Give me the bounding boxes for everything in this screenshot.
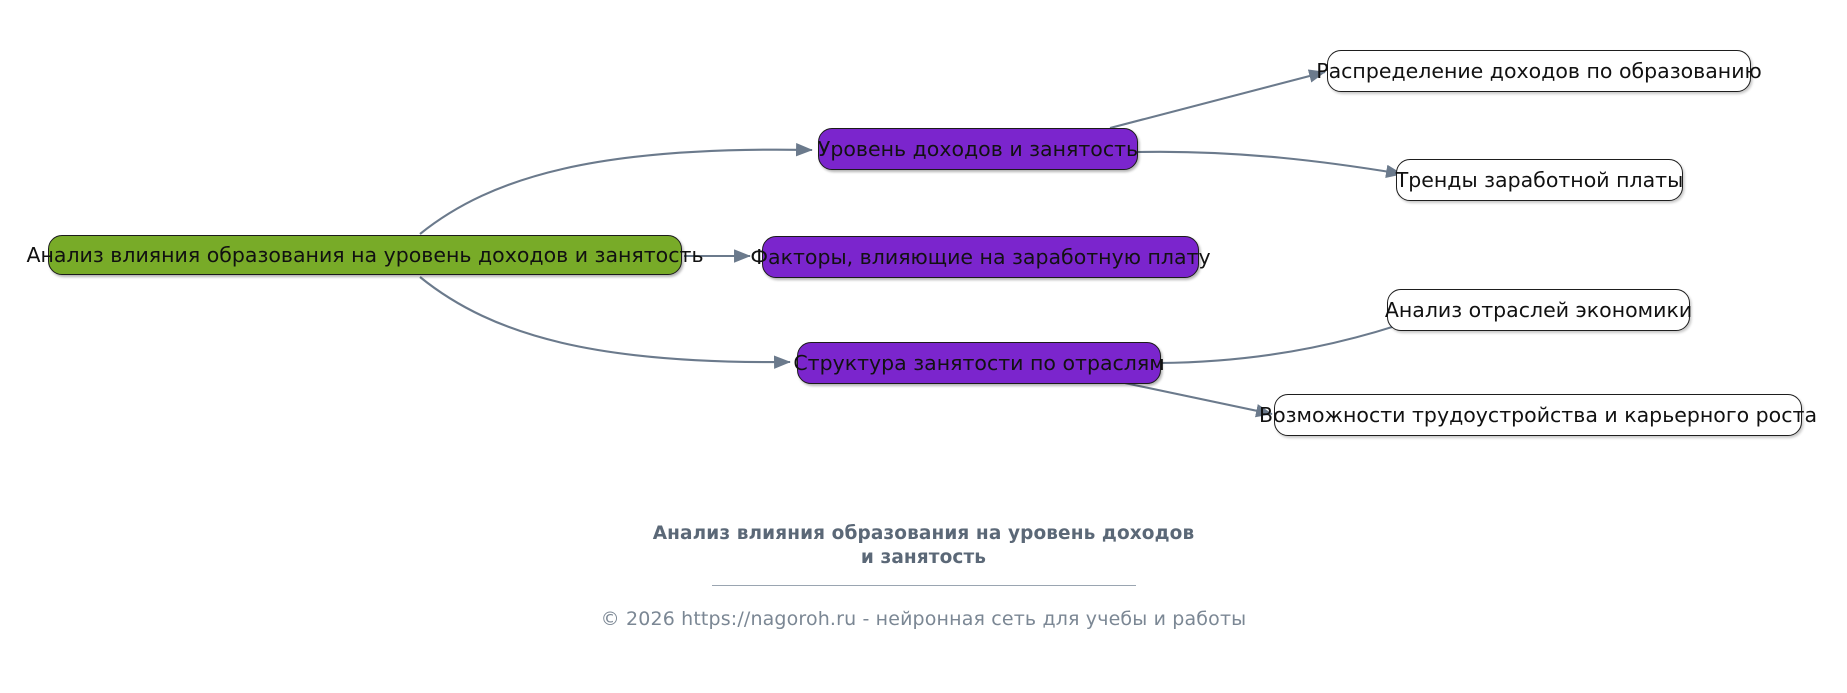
- mindmap-leaf-node-career-opportunities[interactable]: Возможности трудоустройства и карьерного…: [1274, 394, 1802, 436]
- mindmap-branch-node-salary-factors[interactable]: Факторы, влияющие на заработную плату: [762, 236, 1199, 278]
- edge-branch-1-to-leaf-2: [1138, 152, 1402, 174]
- mindmap-branch-node-label: Структура занятости по отраслям: [793, 352, 1164, 375]
- edge-branch-3-to-leaf-4: [1120, 382, 1272, 414]
- mindmap-leaf-node-label: Анализ отраслей экономики: [1385, 299, 1692, 322]
- mindmap-branch-node-label: Уровень доходов и занятость: [818, 138, 1138, 161]
- mindmap-leaf-node-income-distribution[interactable]: Распределение доходов по образованию: [1327, 50, 1751, 92]
- mindmap-leaf-node-salary-trends[interactable]: Тренды заработной платы: [1396, 159, 1683, 201]
- mindmap-leaf-node-label: Возможности трудоустройства и карьерного…: [1259, 404, 1817, 427]
- mindmap-branch-node-employment-structure[interactable]: Структура занятости по отраслям: [797, 342, 1161, 384]
- footer-copyright: © 2026 https://nagoroh.ru - нейронная се…: [0, 608, 1847, 630]
- mindmap-leaf-node-label: Тренды заработной платы: [1396, 169, 1684, 192]
- mindmap-root-node[interactable]: Анализ влияния образования на уровень до…: [48, 235, 682, 275]
- edge-branch-1-to-leaf-1: [1110, 72, 1325, 128]
- edge-root-to-branch-1: [420, 150, 812, 234]
- footer: Анализ влияния образования на уровень до…: [0, 522, 1847, 630]
- footer-divider: [712, 585, 1136, 586]
- mindmap-branch-node-income-employment[interactable]: Уровень доходов и занятость: [818, 128, 1138, 170]
- footer-title-line-1: Анализ влияния образования на уровень до…: [0, 522, 1847, 546]
- mindmap-leaf-node-label: Распределение доходов по образованию: [1316, 60, 1762, 83]
- footer-title: Анализ влияния образования на уровень до…: [0, 522, 1847, 571]
- mindmap-branch-node-label: Факторы, влияющие на заработную плату: [750, 246, 1210, 269]
- mindmap-root-node-label: Анализ влияния образования на уровень до…: [26, 244, 703, 267]
- footer-title-line-2: и занятость: [0, 546, 1847, 570]
- mindmap-canvas: Анализ влияния образования на уровень до…: [0, 0, 1847, 693]
- edge-root-to-branch-3: [420, 277, 790, 362]
- mindmap-leaf-node-industry-analysis[interactable]: Анализ отраслей экономики: [1387, 289, 1690, 331]
